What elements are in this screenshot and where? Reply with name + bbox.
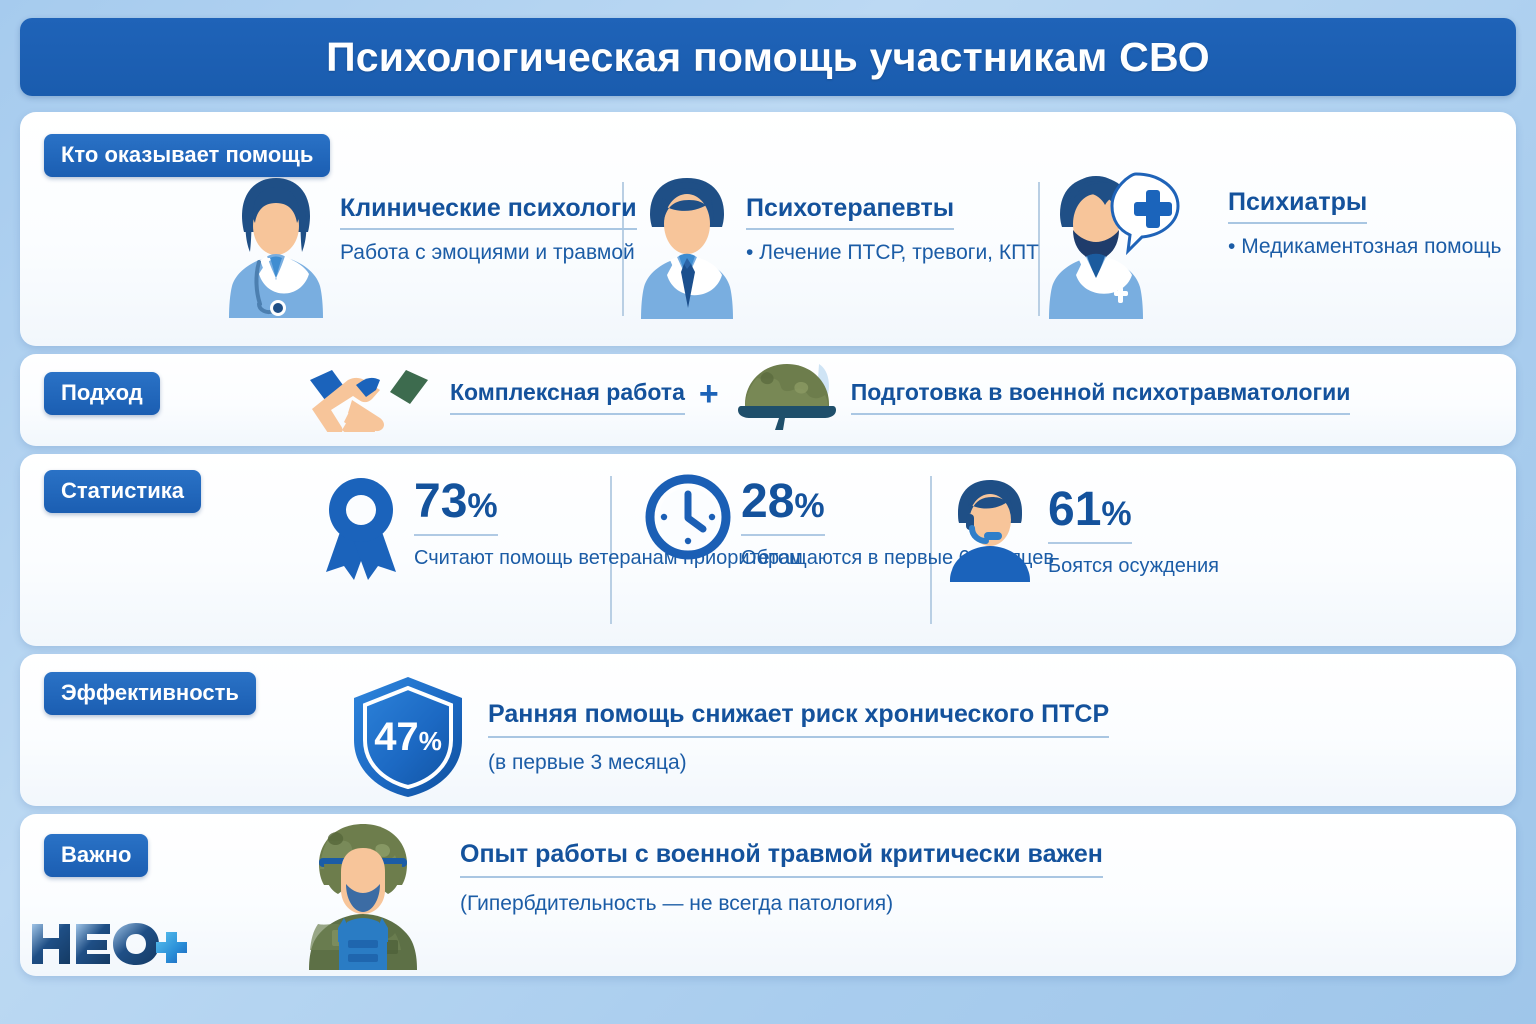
provider-detail-text: Медикаментозная помощь <box>1241 235 1501 258</box>
stat-value: 28% <box>741 478 825 536</box>
section-badge-important: Важно <box>44 834 148 877</box>
soldier-icon <box>288 818 438 970</box>
stat-value: 73% <box>414 478 498 536</box>
effectiveness-headline: Ранняя помощь снижает риск хронического … <box>488 700 1109 738</box>
important-headline: Опыт работы с военной травмой критически… <box>460 840 1103 878</box>
approach-row: Комплексная работа + Подготовка в военно… <box>300 360 1350 434</box>
provider-detail: • Медикаментозная помощь <box>1228 234 1501 260</box>
military-helmet-icon <box>733 360 841 434</box>
stat-value: 61% <box>1048 486 1132 544</box>
female-psychologist-icon <box>212 168 340 323</box>
bearded-psychiatrist-icon <box>1036 162 1228 322</box>
person-headset-icon <box>942 476 1038 582</box>
handshake-icon <box>300 362 440 432</box>
approach-right-label: Подготовка в военной психотравматологии <box>851 379 1351 415</box>
stat-number: 28 <box>741 475 794 528</box>
page-title-bar: Психологическая помощь участникам СВО <box>20 18 1516 96</box>
stat-item-fear-of-judgement: 61% Боятся осуждения <box>942 476 1219 582</box>
male-psychotherapist-icon <box>628 168 746 323</box>
section-badge-effectiveness: Эффективность <box>44 672 256 715</box>
stat-number: 73 <box>414 475 467 528</box>
approach-operator: + <box>695 375 723 420</box>
infographic-canvas: Психологическая помощь участникам СВО Кт… <box>0 0 1536 1024</box>
provider-card-psychiatrists: Психиатры • Медикаментозная помощь <box>1036 162 1501 322</box>
shield-icon: 47% <box>348 674 468 800</box>
section-badge-approach: Подход <box>44 372 160 415</box>
approach-left-label: Комплексная работа <box>450 379 685 415</box>
provider-detail-text: Лечение ПТСР, тревоги, КПТ <box>759 241 1039 264</box>
clock-icon <box>645 474 731 564</box>
provider-detail: Работа с эмоциями и травмой <box>340 240 637 266</box>
stat-unit: % <box>794 487 824 525</box>
brand-logo: НЕО+ <box>28 918 188 970</box>
important-row: Опыт работы с военной травмой критически… <box>288 818 1103 970</box>
page-title: Психологическая помощь участникам СВО <box>326 34 1210 81</box>
provider-detail: • Лечение ПТСР, тревоги, КПТ <box>746 240 1039 266</box>
award-ribbon-icon <box>318 474 404 586</box>
provider-title: Психиатры <box>1228 188 1367 224</box>
stat-unit: % <box>1101 495 1131 533</box>
effectiveness-row: 47% Ранняя помощь снижает риск хроническ… <box>348 674 1109 800</box>
provider-title: Психотерапевты <box>746 194 954 230</box>
important-subtext: (Гипербдительность — не всегда патология… <box>460 892 1103 916</box>
provider-title: Клинические психологи <box>340 194 637 230</box>
section-badge-statistics: Статистика <box>44 470 201 513</box>
provider-card-psychotherapists: Психотерапевты • Лечение ПТСР, тревоги, … <box>628 168 1039 323</box>
neo-plus-logo-icon: НЕО+ <box>28 918 188 970</box>
provider-card-clinical-psychologists: Клинические психологи Работа с эмоциями … <box>212 168 637 323</box>
stat-unit: % <box>467 487 497 525</box>
effectiveness-subtext: (в первые 3 месяца) <box>488 751 1109 775</box>
stat-label: Боятся осуждения <box>1048 553 1219 579</box>
stat-number: 61 <box>1048 483 1101 536</box>
